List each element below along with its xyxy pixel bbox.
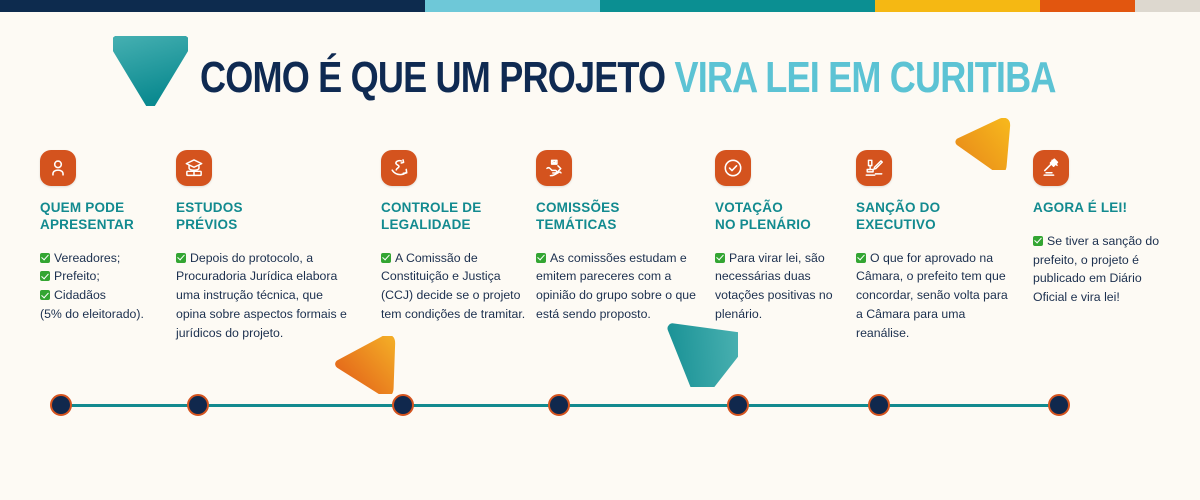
topbar-segment-light-teal xyxy=(425,0,600,12)
topbar-segment-gold xyxy=(875,0,1040,12)
step-title-line: APRESENTAR xyxy=(40,217,170,234)
topbar-segment-teal xyxy=(600,0,875,12)
step-column-3: CONTROLE DELEGALIDADEA Comissão de Const… xyxy=(381,150,526,324)
timeline-dot-6[interactable] xyxy=(868,394,890,416)
step-bullet-text: Se tiver a sanção do prefeito, o projeto… xyxy=(1033,234,1159,304)
check-icon xyxy=(1033,236,1043,246)
step-bullet-text: Cidadãos xyxy=(54,288,106,302)
page-title-part2: VIRA LEI EM CURITIBA xyxy=(674,53,1055,102)
step-title-5: VOTAÇÃONO PLENÁRIO xyxy=(715,200,845,234)
check-icon xyxy=(381,253,391,263)
infographic-page: COMO É QUE UM PROJETO VIRA LEI EM CURITI… xyxy=(0,0,1200,500)
step-title-line: ESTUDOS xyxy=(176,200,351,217)
stamp-pen-icon xyxy=(856,150,892,186)
check-icon xyxy=(176,253,186,263)
step-bullet: Vereadores; xyxy=(40,249,170,268)
step-bullet: Depois do protocolo, a Procuradoria Jurí… xyxy=(176,249,351,342)
check-icon xyxy=(536,253,546,263)
step-title-line: LEGALIDADE xyxy=(381,217,526,234)
step-body-4: As comissões estudam e emitem pareceres … xyxy=(536,249,696,324)
step-body-7: Se tiver a sanção do prefeito, o projeto… xyxy=(1033,232,1173,307)
step-title-3: CONTROLE DELEGALIDADE xyxy=(381,200,526,234)
gavel-icon xyxy=(1033,150,1069,186)
orange-triangle-decoration xyxy=(335,336,397,394)
step-bullet: Para virar lei, são necessárias duas vot… xyxy=(715,249,845,324)
check-icon xyxy=(856,253,866,263)
step-bullet-text: Depois do protocolo, a Procuradoria Jurí… xyxy=(176,251,347,340)
step-title-line: CONTROLE DE xyxy=(381,200,526,217)
teal-down-triangle-decoration xyxy=(113,36,188,106)
page-title-part1: COMO É QUE UM PROJETO xyxy=(200,53,665,102)
step-title-line: PRÉVIOS xyxy=(176,217,351,234)
step-title-4: COMISSÕESTEMÁTICAS xyxy=(536,200,696,234)
step-title-line: AGORA É LEI! xyxy=(1033,200,1173,217)
check-icon xyxy=(40,253,50,263)
steps-container: QUEM PODEAPRESENTARVereadores;Prefeito;C… xyxy=(0,150,1200,340)
step-column-2: ESTUDOSPRÉVIOSDepois do protocolo, a Pro… xyxy=(176,150,351,342)
check-icon xyxy=(715,253,725,263)
step-bullet-text: As comissões estudam e emitem pareceres … xyxy=(536,251,696,321)
step-bullet: A Comissão de Constituição e Justiça (CC… xyxy=(381,249,526,324)
step-body-1: Vereadores;Prefeito;Cidadãos(5% do eleit… xyxy=(40,249,170,324)
step-body-3: A Comissão de Constituição e Justiça (CC… xyxy=(381,249,526,324)
step-bullet: As comissões estudam e emitem pareceres … xyxy=(536,249,696,324)
check-icon xyxy=(40,271,50,281)
step-column-4: COMISSÕESTEMÁTICASAs comissões estudam e… xyxy=(536,150,696,324)
topbar-segment-gray xyxy=(1135,0,1200,12)
step-column-5: VOTAÇÃONO PLENÁRIOPara virar lei, são ne… xyxy=(715,150,845,324)
check-icon xyxy=(40,290,50,300)
person-icon xyxy=(40,150,76,186)
step-column-1: QUEM PODEAPRESENTARVereadores;Prefeito;C… xyxy=(40,150,170,324)
timeline-dot-4[interactable] xyxy=(548,394,570,416)
topbar-segment-navy xyxy=(0,0,425,12)
step-body-6: O que for aprovado na Câmara, o prefeito… xyxy=(856,249,1016,342)
timeline-dot-3[interactable] xyxy=(392,394,414,416)
timeline-dot-1[interactable] xyxy=(50,394,72,416)
step-column-7: AGORA É LEI!Se tiver a sanção do prefeit… xyxy=(1033,150,1173,307)
top-color-bar xyxy=(0,0,1200,12)
graduation-book-icon xyxy=(176,150,212,186)
timeline-dot-2[interactable] xyxy=(187,394,209,416)
step-title-line: COMISSÕES xyxy=(536,200,696,217)
step-title-line: QUEM PODE xyxy=(40,200,170,217)
step-bullet-text: A Comissão de Constituição e Justiça (CC… xyxy=(381,251,525,321)
topbar-segment-orange xyxy=(1040,0,1135,12)
step-bullet-text: Vereadores; xyxy=(54,251,120,265)
step-column-6: SANÇÃO DOEXECUTIVOO que for aprovado na … xyxy=(856,150,1016,342)
step-bullet-text: Para virar lei, são necessárias duas vot… xyxy=(715,251,833,321)
check-circle-icon xyxy=(715,150,751,186)
timeline-dot-7[interactable] xyxy=(1048,394,1070,416)
step-extra-line: (5% do eleitorado). xyxy=(40,305,170,324)
step-body-2: Depois do protocolo, a Procuradoria Jurí… xyxy=(176,249,351,342)
step-title-line: VOTAÇÃO xyxy=(715,200,845,217)
step-title-line: TEMÁTICAS xyxy=(536,217,696,234)
step-title-7: AGORA É LEI! xyxy=(1033,200,1173,217)
page-title: COMO É QUE UM PROJETO VIRA LEI EM CURITI… xyxy=(200,56,1056,100)
step-title-6: SANÇÃO DOEXECUTIVO xyxy=(856,200,1016,234)
timeline-dot-5[interactable] xyxy=(727,394,749,416)
step-bullet: Prefeito; xyxy=(40,267,170,286)
hand-shuffle-icon xyxy=(381,150,417,186)
timeline xyxy=(0,394,1200,416)
footer: Câmara de Curitiba Este é o processo leg… xyxy=(0,440,1200,500)
hand-document-icon xyxy=(536,150,572,186)
step-bullet: Se tiver a sanção do prefeito, o projeto… xyxy=(1033,232,1173,307)
step-title-1: QUEM PODEAPRESENTAR xyxy=(40,200,170,234)
step-title-line: NO PLENÁRIO xyxy=(715,217,845,234)
step-body-5: Para virar lei, são necessárias duas vot… xyxy=(715,249,845,324)
step-bullet-text: O que for aprovado na Câmara, o prefeito… xyxy=(856,251,1008,340)
step-title-line: EXECUTIVO xyxy=(856,217,1016,234)
step-title-line: SANÇÃO DO xyxy=(856,200,1016,217)
step-bullet: O que for aprovado na Câmara, o prefeito… xyxy=(856,249,1016,342)
step-title-2: ESTUDOSPRÉVIOS xyxy=(176,200,351,234)
step-bullet: Cidadãos xyxy=(40,286,170,305)
step-bullet-text: Prefeito; xyxy=(54,269,100,283)
